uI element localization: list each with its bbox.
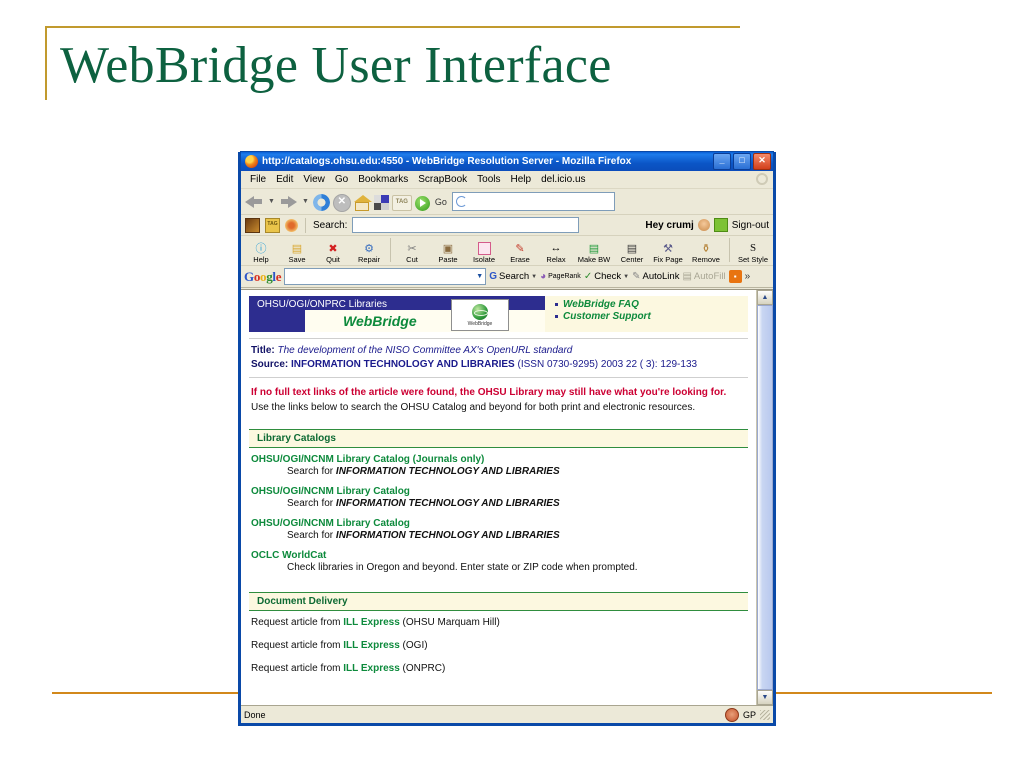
make-bw-icon: ▤ [589, 241, 599, 255]
toolbar-separator [390, 238, 391, 262]
relax-icon: ↔ [551, 241, 562, 255]
citation-source-row: Source: INFORMATION TECHNOLOGY AND LIBRA… [251, 358, 746, 372]
web-page: OHSU/OGI/ONPRC Libraries WebBridge WebBr… [241, 290, 756, 705]
banner-link-faq[interactable]: WebBridge FAQ [555, 299, 748, 310]
go-label: Go [435, 197, 447, 207]
banner-product-name: WebBridge [343, 313, 417, 329]
user-avatar-icon[interactable] [698, 219, 710, 231]
google-autofill-button[interactable]: ▤ AutoFill [682, 271, 725, 282]
webbridge-banner: OHSU/OGI/ONPRC Libraries WebBridge WebBr… [249, 296, 748, 332]
vertical-scrollbar[interactable]: ▲ ▼ [756, 290, 773, 705]
document-delivery-list: Request article from ILL Express (OHSU M… [249, 611, 748, 680]
banner-link-support[interactable]: Customer Support [555, 311, 748, 322]
page-title: WebBridge User Interface [60, 36, 880, 95]
stop-icon[interactable]: ✕ [333, 194, 351, 212]
aardvark-button-center[interactable]: ▤ Center [614, 241, 650, 264]
citation-source-rest: (ISSN 0730-9295) 2003 22 ( 3): 129-133 [518, 359, 698, 370]
go-icon[interactable] [415, 196, 430, 211]
webbridge-logo: WebBridge [451, 299, 509, 331]
menu-item-bookmarks[interactable]: Bookmarks [353, 173, 413, 186]
center-icon: ▤ [627, 241, 637, 255]
citation-title-label: Title: [251, 345, 275, 356]
delicious-star-icon[interactable] [285, 219, 298, 232]
repair-icon: ⚙ [364, 241, 374, 255]
aardvark-button-relax[interactable]: ↔ Relax [538, 241, 574, 264]
delivery-row: Request article from ILL Express (OHSU M… [249, 611, 748, 634]
library-catalog-results: OHSU/OGI/NCNM Library Catalog (Journals … [249, 448, 748, 586]
result-item: OHSU/OGI/NCNM Library Catalog Search for… [251, 486, 746, 509]
section-heading-document-delivery: Document Delivery [249, 592, 748, 611]
result-description: Search for INFORMATION TECHNOLOGY AND LI… [287, 530, 746, 541]
aardvark-button-quit[interactable]: ✖ Quit [315, 241, 351, 264]
delicious-tag-icon[interactable]: TAG [265, 218, 280, 233]
tag-icon[interactable]: TAG [392, 195, 412, 211]
result-link[interactable]: OHSU/OGI/NCNM Library Catalog [251, 486, 746, 497]
ill-express-link[interactable]: ILL Express [343, 663, 400, 674]
chevron-down-icon[interactable]: ▼ [476, 273, 483, 280]
back-dropdown-icon[interactable]: ▼ [268, 198, 275, 205]
signout-link[interactable]: Sign-out [732, 220, 769, 231]
menu-item-view[interactable]: View [298, 173, 330, 186]
scroll-down-button[interactable]: ▼ [757, 690, 773, 705]
scrollbar-thumb[interactable] [757, 305, 773, 690]
quit-icon: ✖ [328, 241, 337, 255]
bookmarks-icon[interactable] [374, 195, 389, 210]
window-titlebar: http://catalogs.ohsu.edu:4550 - WebBridg… [240, 151, 774, 171]
help-icon: ⓘ [256, 241, 267, 255]
aardvark-button-erase[interactable]: ✎ Erase [502, 241, 538, 264]
customer-support-link[interactable]: Customer Support [563, 311, 651, 322]
isolate-icon [478, 241, 491, 255]
result-link[interactable]: OCLC WorldCat [251, 550, 746, 561]
google-autolink-button[interactable]: ✎ AutoLink [632, 271, 679, 282]
google-search-button[interactable]: G Search▼ [489, 271, 537, 282]
google-check-button[interactable]: ✓ Check▼ [584, 271, 629, 282]
google-g-icon: G [489, 271, 497, 282]
delicious-account-area: Hey crumj Sign-out [645, 218, 769, 232]
banner-links: WebBridge FAQ Customer Support [545, 296, 748, 332]
content-viewport: OHSU/OGI/ONPRC Libraries WebBridge WebBr… [241, 289, 773, 705]
result-link[interactable]: OHSU/OGI/NCNM Library Catalog (Journals … [251, 454, 746, 465]
banner-product-row: WebBridge [305, 310, 545, 332]
citation-source-journal: INFORMATION TECHNOLOGY AND LIBRARIES [291, 359, 515, 370]
slide-accent-rule-left [45, 26, 47, 100]
result-description: Search for INFORMATION TECHNOLOGY AND LI… [287, 498, 746, 509]
menu-item-delicious[interactable]: del.icio.us [536, 173, 590, 186]
navigation-toolbar: ▼ ▼ ✕ TAG Go [241, 189, 773, 215]
notice-body-text: Use the links below to search the OHSU C… [251, 402, 695, 413]
result-item: OCLC WorldCat Check libraries in Oregon … [251, 550, 746, 573]
back-arrow-icon[interactable] [245, 192, 264, 211]
menu-item-scrapbook[interactable]: ScrapBook [413, 173, 472, 186]
google-toolbar: Google ▼ G Search▼ ◕ PageRank ✓ Check▼ ✎… [241, 266, 773, 288]
toolbar-separator [305, 218, 306, 233]
result-item: OHSU/OGI/NCNM Library Catalog (Journals … [251, 454, 746, 477]
google-logo: Google [244, 269, 281, 285]
browser-window: http://catalogs.ohsu.edu:4550 - WebBridg… [238, 152, 776, 726]
aardvark-button-set-style[interactable]: S Set Style [733, 241, 773, 264]
aardvark-button-cut[interactable]: ✂ Cut [394, 241, 430, 264]
erase-icon: ✎ [515, 241, 524, 255]
ill-express-link[interactable]: ILL Express [343, 617, 400, 628]
aardvark-button-save[interactable]: ▤ Save [279, 241, 315, 264]
menu-item-edit[interactable]: Edit [271, 173, 298, 186]
result-link[interactable]: OHSU/OGI/NCNM Library Catalog [251, 518, 746, 529]
citation-title-value: The development of the NISO Committee AX… [278, 345, 573, 356]
menu-item-tools[interactable]: Tools [472, 173, 505, 186]
toolbar-separator [729, 238, 730, 262]
menu-item-help[interactable]: Help [506, 173, 537, 186]
minimize-button[interactable]: _ [713, 153, 731, 170]
status-right: GP [725, 708, 770, 722]
menu-bar: File Edit View Go Bookmarks ScrapBook To… [241, 171, 773, 189]
google-pagerank[interactable]: ◕ PageRank [540, 271, 581, 282]
globe-icon [472, 304, 488, 320]
aardvark-button-fix-page[interactable]: ⚒ Fix Page [650, 241, 686, 264]
greasemonkey-icon[interactable] [725, 708, 739, 722]
window-title: http://catalogs.ohsu.edu:4550 - WebBridg… [262, 156, 713, 167]
status-right-label: GP [743, 710, 756, 720]
aardvark-button-make-bw[interactable]: ▤ Make BW [574, 241, 614, 264]
save-icon: ▤ [292, 241, 302, 255]
citation-title-row: Title: The development of the NISO Commi… [251, 344, 746, 358]
aardvark-button-repair[interactable]: ⚙ Repair [351, 241, 387, 264]
window-controls: _ □ ✕ [713, 153, 771, 170]
resize-grip[interactable] [760, 710, 770, 720]
bullet-icon [555, 303, 558, 306]
scroll-up-button[interactable]: ▲ [757, 290, 773, 305]
location-favicon-icon [456, 196, 467, 207]
maximize-button[interactable]: □ [733, 153, 751, 170]
aardvark-button-isolate[interactable]: Isolate [466, 241, 502, 264]
webbridge-faq-link[interactable]: WebBridge FAQ [563, 299, 639, 310]
toolbar-overflow-icon[interactable]: » [745, 271, 751, 282]
status-bar: Done GP [241, 705, 773, 723]
throbber-icon [756, 173, 768, 185]
delicious-toolbar: TAG Search: Hey crumj Sign-out [241, 215, 773, 236]
bookmark-pin-icon[interactable] [714, 218, 728, 232]
banner-left: OHSU/OGI/ONPRC Libraries WebBridge WebBr… [249, 296, 545, 332]
fix-page-icon: ⚒ [663, 241, 673, 255]
logo-caption: WebBridge [468, 321, 493, 327]
delivery-row: Request article from ILL Express (OGI) [249, 634, 748, 657]
citation-block: Title: The development of the NISO Commi… [249, 338, 748, 377]
forward-dropdown-icon[interactable]: ▼ [302, 198, 309, 205]
notice-strong-text: If no full text links of the article wer… [251, 387, 726, 398]
autofill-icon: ▤ [682, 271, 691, 282]
paste-icon: ▣ [443, 241, 453, 255]
google-search-input[interactable]: ▼ [284, 268, 486, 285]
bullet-icon [555, 315, 558, 318]
pagerank-icon: ◕ [540, 271, 546, 282]
cut-icon: ✂ [407, 241, 416, 255]
forward-arrow-icon[interactable] [279, 192, 298, 211]
aardvark-button-paste[interactable]: ▣ Paste [430, 241, 466, 264]
aardvark-button-remove[interactable]: ⚱ Remove [686, 241, 726, 264]
result-description: Search for INFORMATION TECHNOLOGY AND LI… [287, 466, 746, 477]
menu-item-file[interactable]: File [245, 173, 271, 186]
delivery-row: Request article from ILL Express (ONPRC) [249, 657, 748, 680]
menu-item-go[interactable]: Go [330, 173, 353, 186]
set-style-icon: S [750, 241, 756, 255]
aardvark-toolbar: ⓘ Help ▤ Save ✖ Quit ⚙ Repair ✂ Cut ▣ Pa… [241, 236, 773, 266]
citation-source-label: Source: [251, 359, 288, 370]
close-button[interactable]: ✕ [753, 153, 771, 170]
remove-icon: ⚱ [701, 241, 710, 255]
delicious-icon[interactable] [245, 218, 260, 233]
slide-accent-rule-top [45, 26, 740, 28]
status-text: Done [244, 710, 725, 720]
delicious-greeting: Hey crumj [645, 220, 693, 231]
section-heading-library-catalogs: Library Catalogs [249, 429, 748, 448]
result-description: Check libraries in Oregon and beyond. En… [287, 562, 746, 573]
firefox-icon [245, 155, 258, 168]
delicious-search-label: Search: [313, 220, 347, 231]
spellcheck-icon: ✓ [584, 271, 592, 282]
ill-express-link[interactable]: ILL Express [343, 640, 400, 651]
home-icon[interactable] [354, 195, 371, 210]
autolink-icon: ✎ [632, 271, 640, 282]
location-bar[interactable] [452, 192, 615, 211]
notice-block: If no full text links of the article wer… [249, 377, 748, 423]
reload-icon[interactable] [313, 194, 330, 211]
result-item: OHSU/OGI/NCNM Library Catalog Search for… [251, 518, 746, 541]
delicious-search-input[interactable] [352, 217, 579, 233]
rss-icon[interactable]: ▪ [729, 270, 742, 283]
aardvark-button-help[interactable]: ⓘ Help [243, 241, 279, 264]
